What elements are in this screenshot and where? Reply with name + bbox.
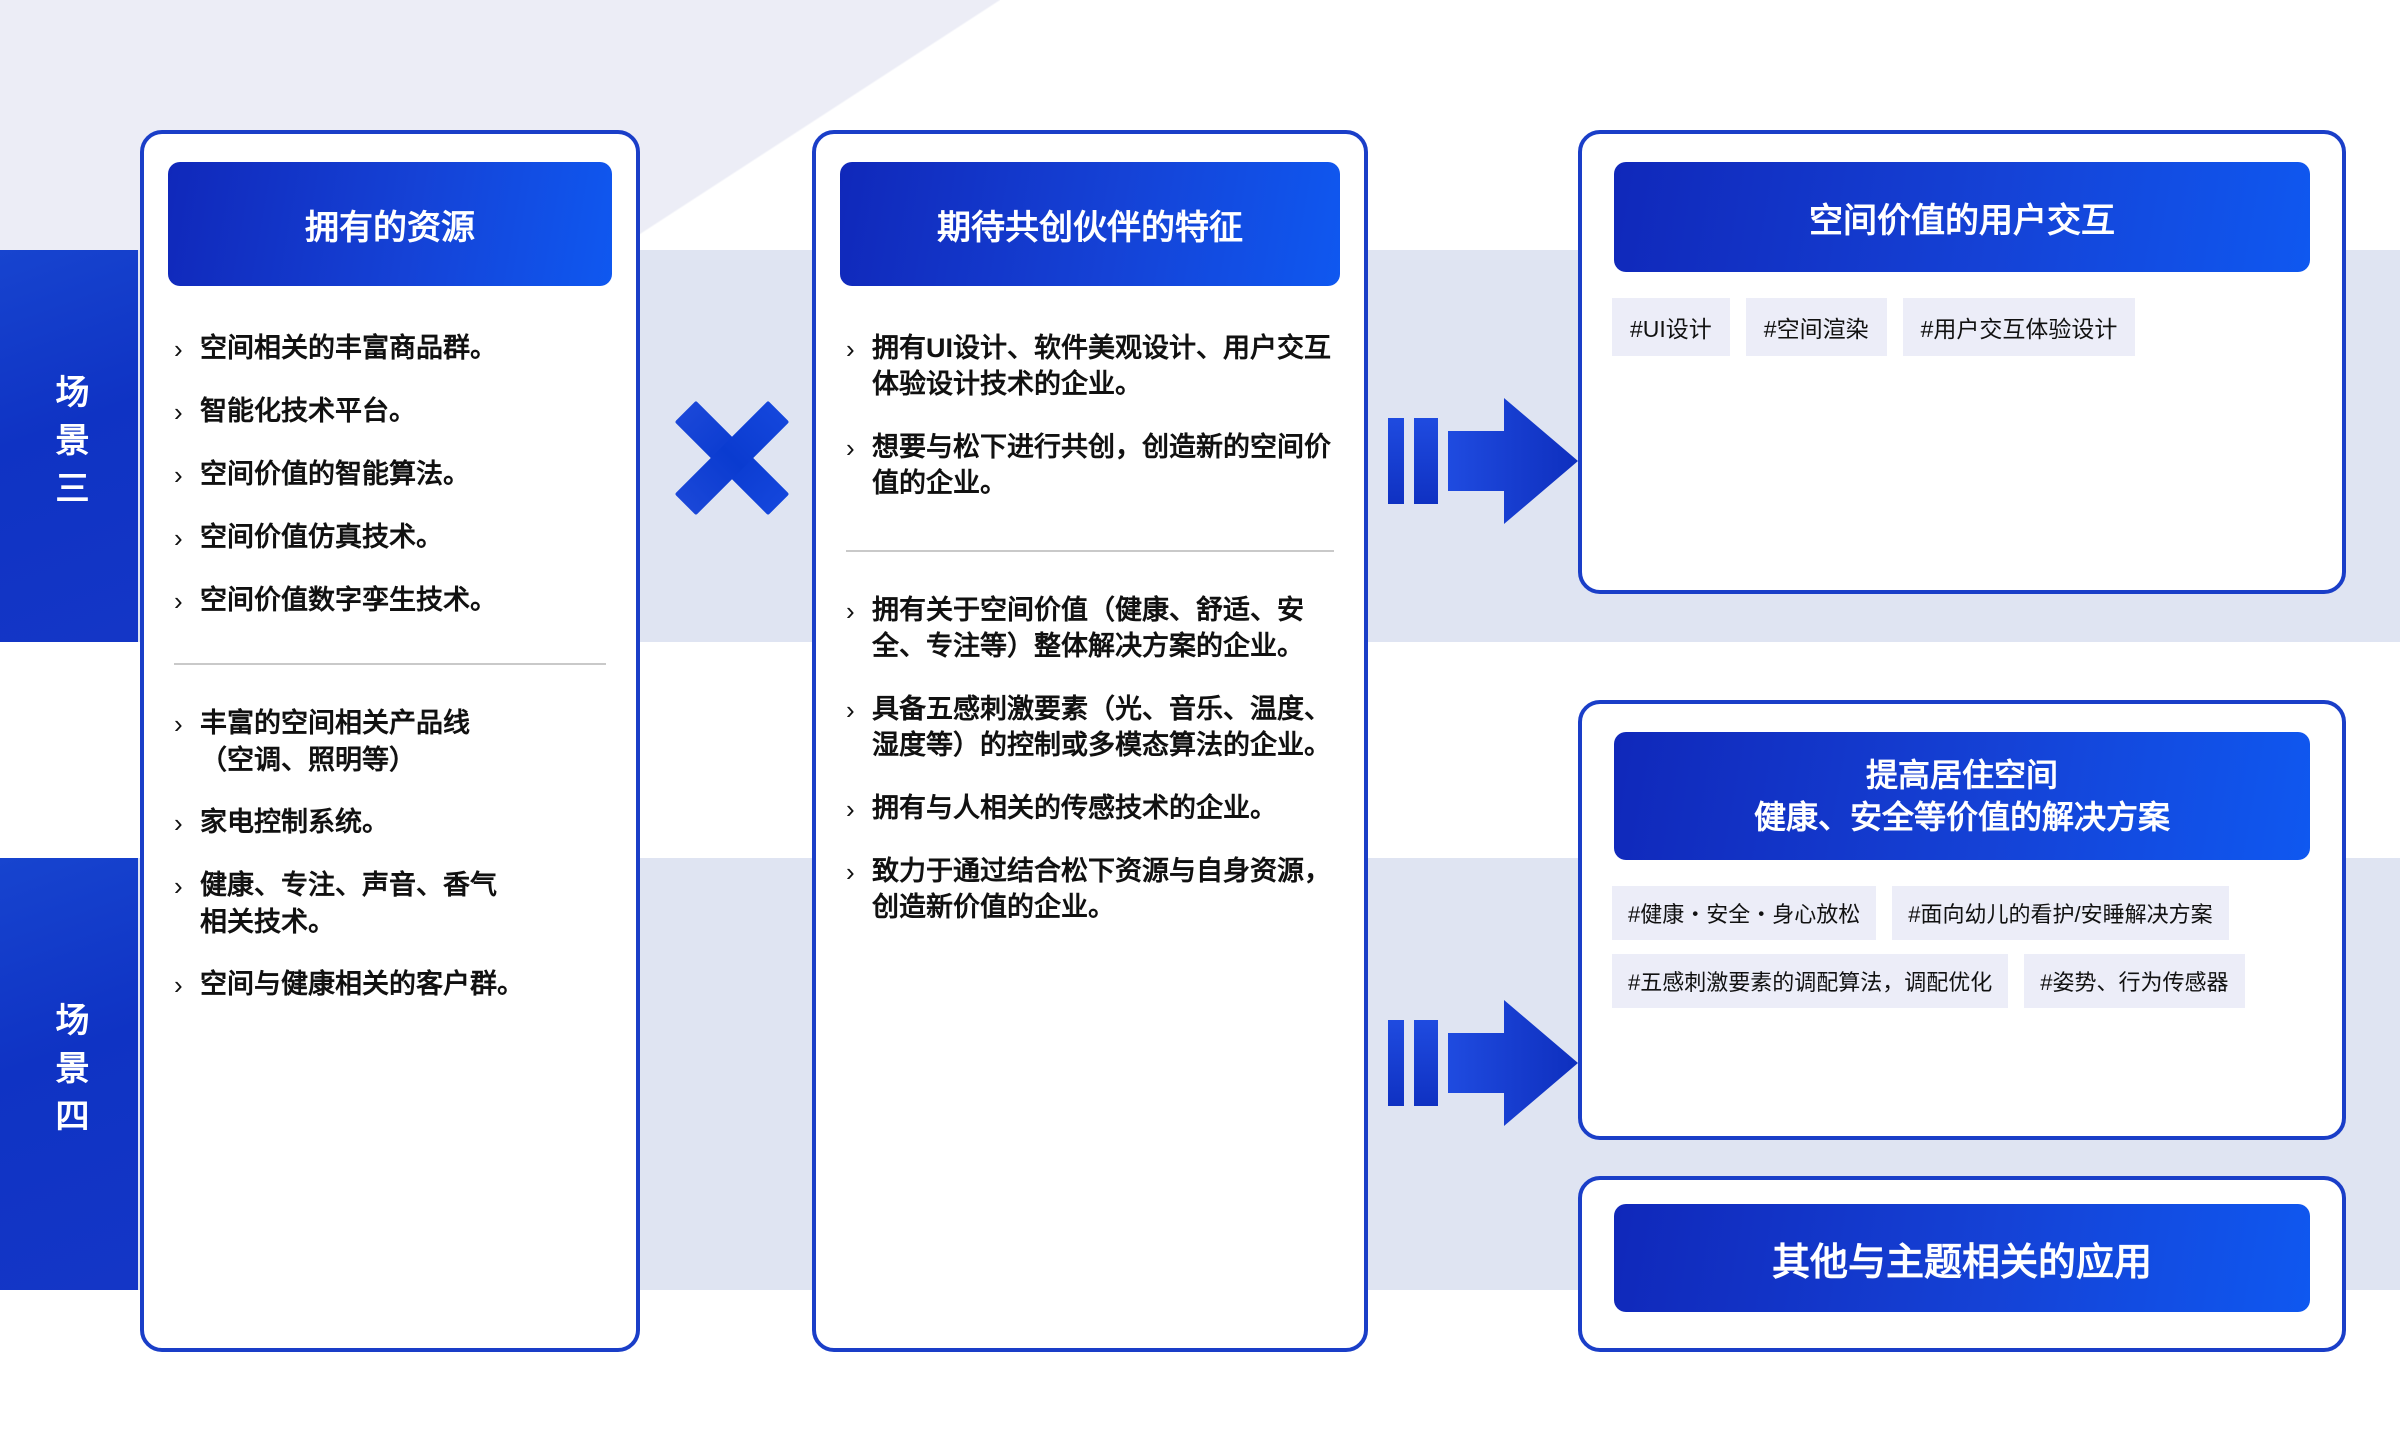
chevron-right-icon: › — [174, 705, 200, 742]
list-item: › 空间相关的丰富商品群。 — [174, 330, 606, 367]
list-item: › 致力于通过结合松下资源与自身资源，创造新价值的企业。 — [846, 853, 1334, 926]
list-item-label: 家电控制系统。 — [200, 804, 389, 840]
output-card-1-title: 空间价值的用户交互 — [1614, 162, 2310, 272]
output-card-3: 其他与主题相关的应用 — [1578, 1176, 2346, 1352]
list-item-label: 想要与松下进行共创，创造新的空间价值的企业。 — [872, 429, 1334, 502]
list-item: › 家电控制系统。 — [174, 804, 606, 841]
partner-card-title: 期待共创伙伴的特征 — [840, 162, 1340, 286]
chevron-right-icon: › — [174, 330, 200, 367]
chevron-right-icon: › — [174, 804, 200, 841]
chevron-right-icon: › — [174, 519, 200, 556]
chevron-right-icon: › — [846, 330, 872, 367]
list-item: › 空间与健康相关的客户群。 — [174, 966, 606, 1003]
list-item: › 空间价值数字孪生技术。 — [174, 582, 606, 619]
output-card-1: 空间价值的用户交互 #UI设计 #空间渲染 #用户交互体验设计 — [1578, 130, 2346, 594]
tag-chip: #空间渲染 — [1746, 298, 1887, 356]
chevron-right-icon: › — [174, 582, 200, 619]
arrow-head-shape — [1448, 398, 1578, 524]
output-card-2: 提高居住空间健康、安全等价值的解决方案 #健康・安全・身心放松 #面向幼儿的看护… — [1578, 700, 2346, 1140]
arrow-bar-small — [1388, 1020, 1404, 1106]
tag-chip: #用户交互体验设计 — [1903, 298, 2136, 356]
chevron-right-icon: › — [174, 867, 200, 904]
multiply-x-icon — [672, 398, 792, 518]
scene-tab-scene4-label: 场景四 — [52, 1002, 86, 1146]
partner-scene3-list: › 拥有UI设计、软件美观设计、用户交互体验设计技术的企业。 › 想要与松下进行… — [816, 330, 1364, 502]
list-item: › 拥有关于空间价值（健康、舒适、安全、专注等）整体解决方案的企业。 — [846, 592, 1334, 665]
resources-card: 拥有的资源 › 空间相关的丰富商品群。 › 智能化技术平台。 › 空间价值的智能… — [140, 130, 640, 1352]
list-item: › 健康、专注、声音、香气相关技术。 — [174, 867, 606, 940]
list-item-label: 拥有UI设计、软件美观设计、用户交互体验设计技术的企业。 — [872, 330, 1334, 403]
partner-card-divider — [846, 550, 1334, 552]
list-item-label: 智能化技术平台。 — [200, 393, 416, 429]
list-item: › 智能化技术平台。 — [174, 393, 606, 430]
list-item-label: 拥有与人相关的传感技术的企业。 — [872, 790, 1277, 826]
list-item: › 空间价值的智能算法。 — [174, 456, 606, 493]
tag-chip: #面向幼儿的看护/安睡解决方案 — [1892, 886, 2228, 940]
resources-scene3-list: › 空间相关的丰富商品群。 › 智能化技术平台。 › 空间价值的智能算法。 › … — [144, 330, 636, 619]
scene-tab-scene3-label: 场景三 — [52, 374, 86, 518]
scene-tab-scene4: 场景四 — [0, 858, 138, 1290]
list-item-label: 健康、专注、声音、香气相关技术。 — [200, 867, 497, 940]
output-card-2-tags: #健康・安全・身心放松 #面向幼儿的看护/安睡解决方案 #五感刺激要素的调配算法… — [1582, 860, 2342, 1008]
chevron-right-icon: › — [846, 790, 872, 827]
chevron-right-icon: › — [846, 853, 872, 890]
double-bar-arrow-right-icon-2 — [1388, 1000, 1578, 1126]
chevron-right-icon: › — [846, 691, 872, 728]
list-item-label: 空间相关的丰富商品群。 — [200, 330, 497, 366]
arrow-bar-medium — [1414, 1020, 1438, 1106]
tag-chip: #五感刺激要素的调配算法，调配优化 — [1612, 954, 2008, 1008]
tag-chip: #UI设计 — [1612, 298, 1730, 356]
list-item-label: 致力于通过结合松下资源与自身资源，创造新价值的企业。 — [872, 853, 1334, 926]
double-bar-arrow-right-icon-1 — [1388, 398, 1578, 524]
resources-card-divider — [174, 663, 606, 665]
list-item-label: 空间价值数字孪生技术。 — [200, 582, 497, 618]
tag-chip: #健康・安全・身心放松 — [1612, 886, 1876, 940]
list-item: › 丰富的空间相关产品线（空调、照明等） — [174, 705, 606, 778]
arrow-bar-medium — [1414, 418, 1438, 504]
chevron-right-icon: › — [174, 966, 200, 1003]
list-item-label: 空间与健康相关的客户群。 — [200, 966, 524, 1002]
resources-card-title: 拥有的资源 — [168, 162, 612, 286]
chevron-right-icon: › — [846, 592, 872, 629]
arrow-head-shape — [1448, 1000, 1578, 1126]
chevron-right-icon: › — [174, 456, 200, 493]
list-item: › 拥有UI设计、软件美观设计、用户交互体验设计技术的企业。 — [846, 330, 1334, 403]
chevron-right-icon: › — [174, 393, 200, 430]
arrow-bar-small — [1388, 418, 1404, 504]
diagram-canvas: 场景三 场景四 拥有的资源 › 空间相关的丰富商品群。 › 智能化技术平台。 ›… — [0, 0, 2400, 1444]
partner-scene4-list: › 拥有关于空间价值（健康、舒适、安全、专注等）整体解决方案的企业。 › 具备五… — [816, 592, 1364, 926]
output-card-2-title: 提高居住空间健康、安全等价值的解决方案 — [1614, 732, 2310, 860]
list-item-label: 丰富的空间相关产品线（空调、照明等） — [200, 705, 470, 778]
chevron-right-icon: › — [846, 429, 872, 466]
list-item: › 具备五感刺激要素（光、音乐、温度、湿度等）的控制或多模态算法的企业。 — [846, 691, 1334, 764]
list-item: › 想要与松下进行共创，创造新的空间价值的企业。 — [846, 429, 1334, 502]
tag-chip: #姿势、行为传感器 — [2024, 954, 2244, 1008]
list-item: › 空间价值仿真技术。 — [174, 519, 606, 556]
resources-scene4-list: › 丰富的空间相关产品线（空调、照明等） › 家电控制系统。 › 健康、专注、声… — [144, 705, 636, 1003]
list-item: › 拥有与人相关的传感技术的企业。 — [846, 790, 1334, 827]
list-item-label: 拥有关于空间价值（健康、舒适、安全、专注等）整体解决方案的企业。 — [872, 592, 1334, 665]
output-card-1-tags: #UI设计 #空间渲染 #用户交互体验设计 — [1582, 272, 2342, 356]
list-item-label: 具备五感刺激要素（光、音乐、温度、湿度等）的控制或多模态算法的企业。 — [872, 691, 1334, 764]
list-item-label: 空间价值的智能算法。 — [200, 456, 470, 492]
list-item-label: 空间价值仿真技术。 — [200, 519, 443, 555]
output-card-3-title: 其他与主题相关的应用 — [1614, 1204, 2310, 1312]
scene-tab-scene3: 场景三 — [0, 250, 138, 642]
partner-card: 期待共创伙伴的特征 › 拥有UI设计、软件美观设计、用户交互体验设计技术的企业。… — [812, 130, 1368, 1352]
